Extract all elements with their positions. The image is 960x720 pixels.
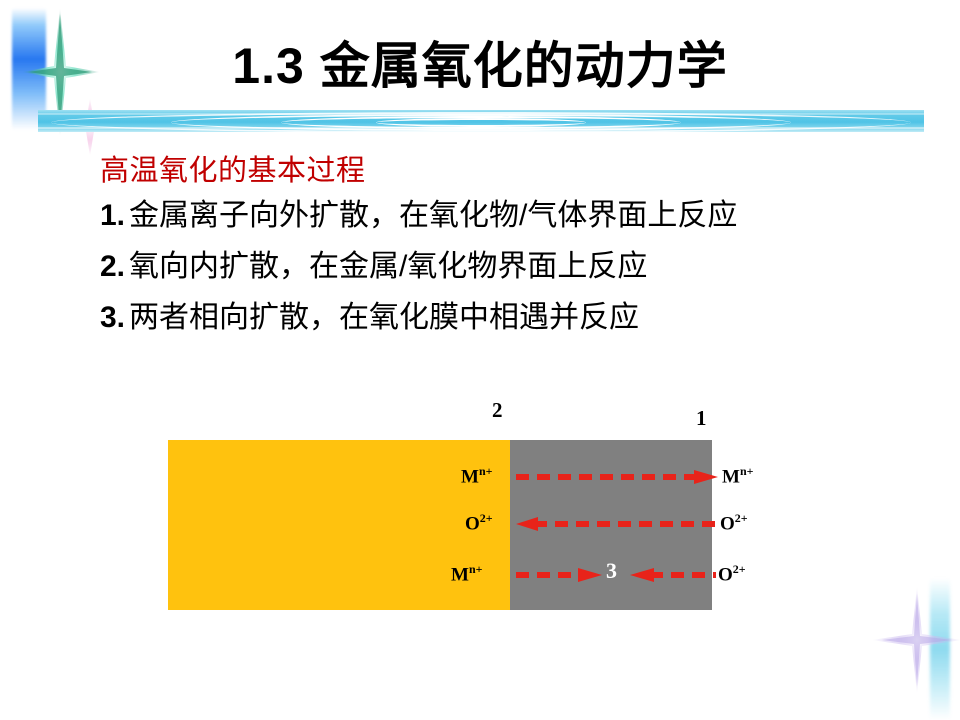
arrow-left-row2 bbox=[516, 517, 716, 531]
list-item: 1.金属离子向外扩散，在氧化物/气体界面上反应 bbox=[100, 190, 940, 241]
list-item-text: 两者相向扩散，在氧化膜中相遇并反应 bbox=[129, 301, 639, 334]
species-label-right-row1: Mn+ bbox=[722, 464, 753, 488]
species-base: O bbox=[465, 513, 480, 534]
species-charge: n+ bbox=[469, 562, 483, 576]
species-charge: 2+ bbox=[733, 562, 746, 576]
list-item-number: 1. bbox=[100, 199, 125, 232]
page-title: 1.3 金属氧化的动力学 bbox=[0, 26, 960, 98]
decorative-cyan-gradient-bar bbox=[930, 578, 950, 720]
species-base: M bbox=[722, 466, 740, 487]
header-wave-band bbox=[38, 107, 924, 135]
oxidation-diagram: 2 1 Mn+ Mn+ O2+ O2+ Mn+ bbox=[168, 398, 728, 628]
arrow-left-row3 bbox=[630, 568, 716, 582]
arrow-right-row1 bbox=[516, 470, 718, 484]
body-text-block: 高温氧化的基本过程 1.金属离子向外扩散，在氧化物/气体界面上反应 2.氧向内扩… bbox=[100, 152, 940, 343]
species-charge: n+ bbox=[479, 464, 493, 478]
list-item-number: 3. bbox=[100, 301, 125, 334]
interface-label-outer: 1 bbox=[696, 406, 707, 431]
species-charge: n+ bbox=[740, 464, 754, 478]
species-base: M bbox=[451, 564, 469, 585]
species-base: O bbox=[718, 564, 733, 585]
slide-canvas: 1.3 金属氧化的动力学 高温氧化的基本过程 1.金属离子向外扩散，在氧化物/气… bbox=[0, 0, 960, 720]
process-step-list: 1.金属离子向外扩散，在氧化物/气体界面上反应 2.氧向内扩散，在金属/氧化物界… bbox=[100, 190, 940, 343]
species-label-left-row1: Mn+ bbox=[461, 464, 492, 488]
species-label-right-row3: O2+ bbox=[718, 562, 746, 586]
species-label-right-row2: O2+ bbox=[720, 511, 748, 535]
species-label-left-row3: Mn+ bbox=[451, 562, 482, 586]
species-label-left-row2: O2+ bbox=[465, 511, 493, 535]
section-subheading: 高温氧化的基本过程 bbox=[100, 152, 940, 190]
species-base: O bbox=[720, 513, 735, 534]
list-item: 2.氧向内扩散，在金属/氧化物界面上反应 bbox=[100, 241, 940, 292]
interface-label-inner: 2 bbox=[492, 398, 503, 423]
species-charge: 2+ bbox=[735, 511, 748, 525]
list-item-number: 2. bbox=[100, 250, 125, 283]
list-item-text: 金属离子向外扩散，在氧化物/气体界面上反应 bbox=[129, 199, 737, 232]
band-lens-4 bbox=[376, 118, 586, 127]
species-charge: 2+ bbox=[480, 511, 493, 525]
species-base: M bbox=[461, 466, 479, 487]
meeting-point-marker: 3 bbox=[606, 558, 617, 584]
arrow-right-row3 bbox=[516, 568, 602, 582]
list-item: 3.两者相向扩散，在氧化膜中相遇并反应 bbox=[100, 292, 940, 343]
list-item-text: 氧向内扩散，在金属/氧化物界面上反应 bbox=[129, 250, 647, 283]
